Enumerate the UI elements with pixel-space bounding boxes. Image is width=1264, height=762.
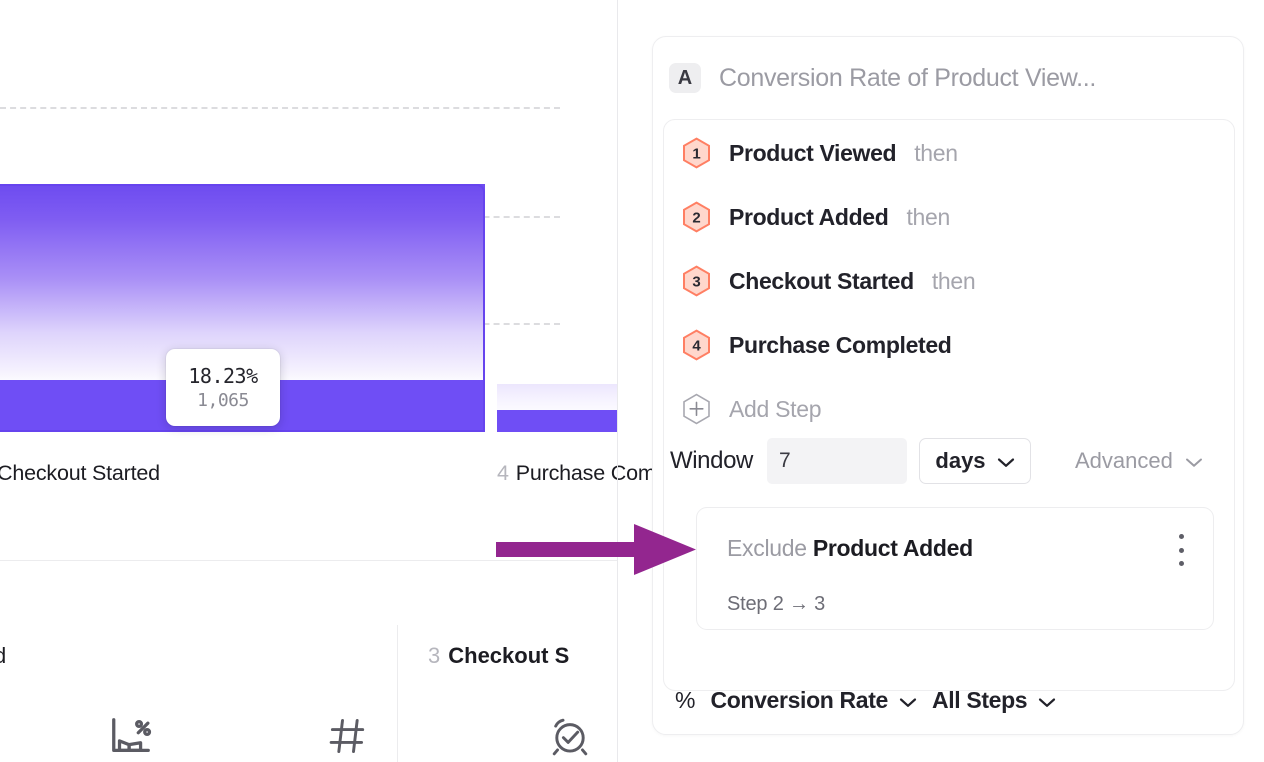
clock-check-icon[interactable] [548, 714, 592, 762]
panel-divider [617, 0, 618, 762]
scope-select-label: All Steps [932, 687, 1027, 714]
step-row-4[interactable]: 4 Purchase Completed [682, 328, 952, 362]
advanced-label: Advanced [1075, 448, 1173, 474]
query-title[interactable]: Conversion Rate of Product View... [719, 64, 1096, 93]
svg-text:1: 1 [692, 145, 700, 162]
bar-purchase-completed[interactable] [497, 384, 617, 432]
exclude-rule-title: Exclude Product Added [727, 535, 973, 562]
step-name: Purchase Completed [729, 332, 952, 359]
window-unit-select[interactable]: days [919, 438, 1031, 484]
exclude-rule-card[interactable]: Exclude Product Added Step 2 → 3 [696, 507, 1214, 630]
builder-footer: % Conversion Rate All Steps [675, 687, 1056, 714]
percent-bar-chart-icon[interactable] [108, 714, 154, 762]
step-name: Product Viewed [729, 140, 896, 167]
step-connector: then [906, 204, 950, 231]
more-options-icon[interactable] [1171, 534, 1191, 566]
svg-text:4: 4 [692, 337, 701, 354]
step-hex-badge-icon: 3 [682, 265, 711, 297]
bar-tooltip: 18.23% 1,065 [166, 349, 280, 426]
query-header[interactable]: A Conversion Rate of Product View... [653, 37, 1243, 119]
dot [1179, 561, 1184, 566]
axis-label-number: 4 [497, 461, 509, 485]
chevron-down-icon [997, 448, 1015, 474]
window-unit-label: days [935, 448, 985, 474]
query-builder-card: A Conversion Rate of Product View... 1 P… [652, 36, 1244, 735]
step-row-3[interactable]: 3 Checkout Started then [682, 264, 975, 298]
svg-text:2: 2 [692, 209, 700, 226]
metric-left-title: d [0, 643, 6, 669]
metric-strip-divider [397, 625, 398, 762]
window-row: Window 7 days Advanced [670, 438, 1203, 484]
exclude-prefix: Exclude [727, 535, 807, 561]
bar-solid-base [497, 410, 617, 432]
exclude-step-range: Step 2 → 3 [727, 593, 825, 616]
step-hex-badge-icon: 2 [682, 201, 711, 233]
dot [1179, 534, 1184, 539]
plus-hex-icon [682, 393, 711, 425]
step-connector: then [914, 140, 958, 167]
metric-right-title-number: 3 [428, 643, 440, 668]
query-letter-badge: A [669, 63, 701, 93]
gridline [0, 107, 560, 109]
metric-right-title: 3Checkout S [428, 643, 569, 669]
steps-card: 1 Product Viewed then 2 Product Added th… [663, 119, 1235, 691]
metric-strip: d 3Checkout S [0, 561, 617, 762]
step-connector: then [932, 268, 976, 295]
scope-select[interactable]: All Steps [932, 687, 1056, 714]
annotation-arrow [494, 518, 704, 580]
chevron-down-icon [899, 687, 917, 714]
step-name: Product Added [729, 204, 888, 231]
metric-select-label: Conversion Rate [710, 687, 888, 714]
step-hex-badge-icon: 4 [682, 329, 711, 361]
window-value-input[interactable]: 7 [767, 438, 907, 484]
metric-select[interactable]: Conversion Rate [710, 687, 917, 714]
hash-icon[interactable] [326, 714, 370, 762]
tooltip-percent: 18.23% [188, 364, 257, 388]
window-label: Window [670, 447, 753, 475]
step-row-2[interactable]: 2 Product Added then [682, 200, 950, 234]
add-step-button[interactable]: Add Step [682, 392, 821, 426]
chevron-down-icon [1185, 448, 1203, 474]
tooltip-count: 1,065 [197, 390, 249, 411]
percent-icon: % [675, 687, 695, 714]
exclude-event-name: Product Added [813, 535, 973, 561]
axis-label-text: Checkout Started [0, 461, 160, 485]
metric-left-title-text: d [0, 643, 6, 668]
bar-gradient-body [497, 384, 617, 410]
advanced-toggle[interactable]: Advanced [1075, 448, 1203, 474]
step-hex-badge-icon: 1 [682, 137, 711, 169]
funnel-chart[interactable]: 18.23% 1,065 Checkout Started 4Purchase … [0, 0, 617, 560]
step-row-1[interactable]: 1 Product Viewed then [682, 136, 958, 170]
step-name: Checkout Started [729, 268, 914, 295]
axis-label-checkout-started: Checkout Started [0, 461, 160, 486]
dot [1179, 548, 1184, 553]
svg-text:3: 3 [692, 273, 700, 290]
chart-region: 18.23% 1,065 Checkout Started 4Purchase … [0, 0, 617, 762]
add-step-label: Add Step [729, 396, 821, 423]
chevron-down-icon [1038, 687, 1056, 714]
metric-right-title-text: Checkout S [448, 643, 569, 668]
